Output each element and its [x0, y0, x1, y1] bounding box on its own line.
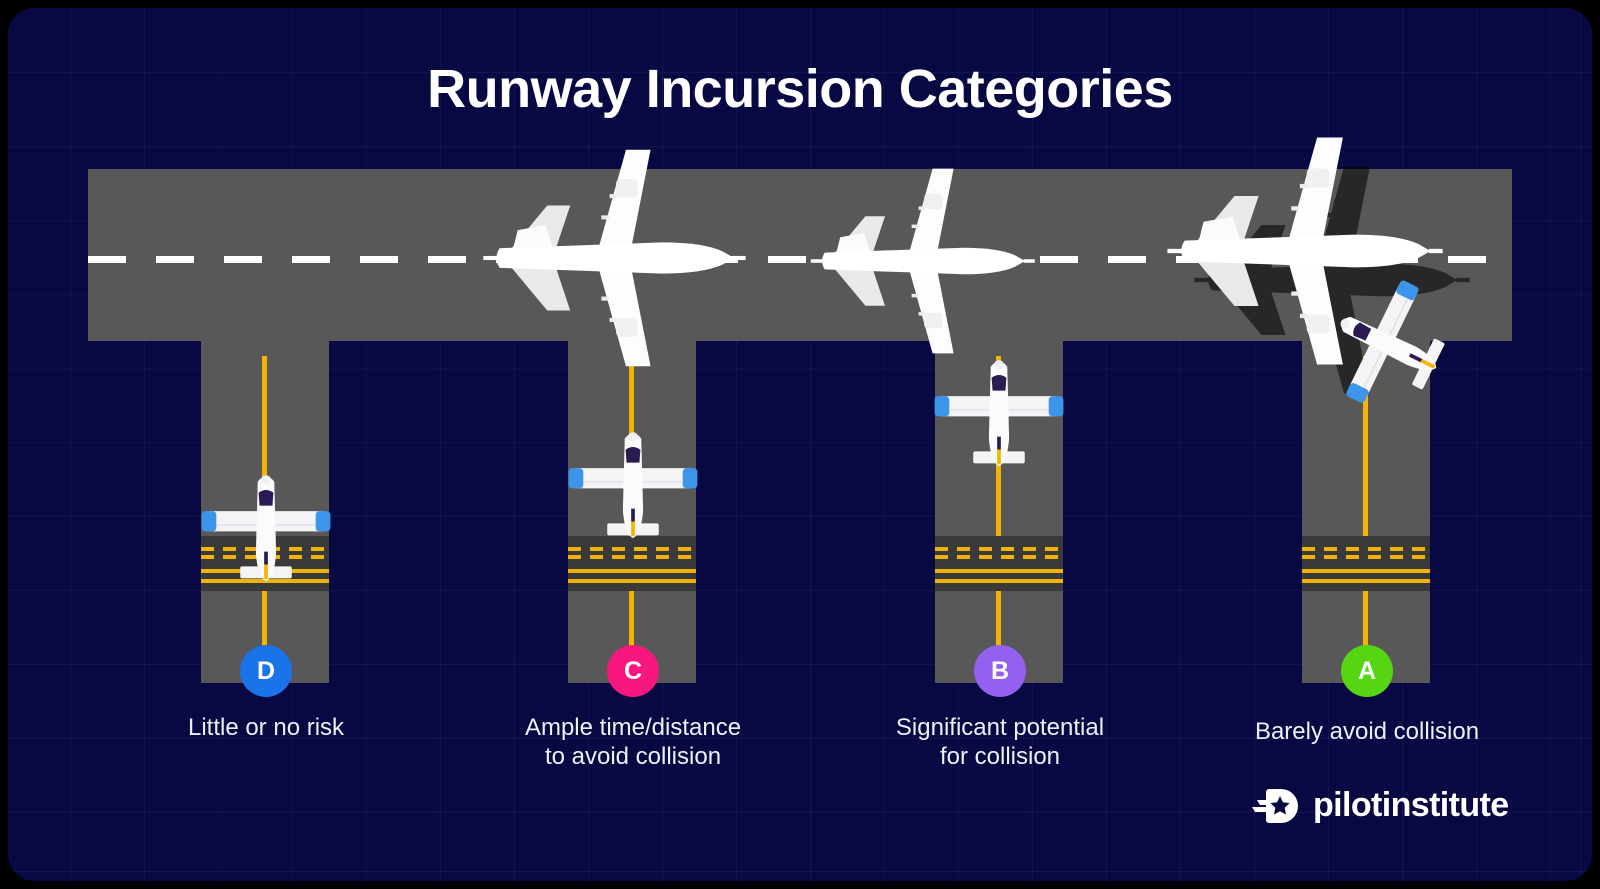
- category-badge-letter: B: [991, 657, 1009, 686]
- small-plane-d: [202, 475, 331, 581]
- category-caption-a: Barely avoid collision: [1207, 717, 1527, 746]
- infographic-card: Runway Incursion Categories: [8, 8, 1592, 881]
- airport-diagram: [8, 8, 1592, 881]
- category-badge-letter: D: [257, 657, 275, 686]
- aircraft-layer: [8, 8, 1592, 881]
- airliner-b: [811, 169, 1035, 354]
- category-badge-b[interactable]: B: [974, 645, 1026, 697]
- brand-wordmark: pilotinstitute: [1313, 786, 1509, 825]
- category-caption-d: Little or no risk: [106, 713, 426, 742]
- category-badge-c[interactable]: C: [607, 645, 659, 697]
- small-plane-c: [569, 432, 698, 538]
- category-badge-d[interactable]: D: [240, 645, 292, 697]
- caption-line: Significant potential: [840, 713, 1160, 742]
- small-plane-b: [935, 360, 1064, 466]
- brand-logo[interactable]: pilotinstitute: [1251, 786, 1509, 825]
- category-badge-letter: A: [1358, 657, 1376, 686]
- category-badge-letter: C: [624, 657, 642, 686]
- category-caption-b: Significant potential for collision: [840, 713, 1160, 771]
- caption-line: Ample time/distance: [473, 713, 793, 742]
- caption-line: Little or no risk: [106, 713, 426, 742]
- caption-line: Barely avoid collision: [1207, 717, 1527, 746]
- airliner-c: [483, 150, 745, 366]
- caption-line: for collision: [840, 742, 1160, 771]
- category-badge-a[interactable]: A: [1341, 645, 1393, 697]
- infographic-root: Runway Incursion Categories: [0, 0, 1600, 889]
- airliner-a: [1167, 137, 1442, 364]
- category-caption-c: Ample time/distance to avoid collision: [473, 713, 793, 771]
- caption-line: to avoid collision: [473, 742, 793, 771]
- winged-star-badge-icon: [1251, 787, 1303, 825]
